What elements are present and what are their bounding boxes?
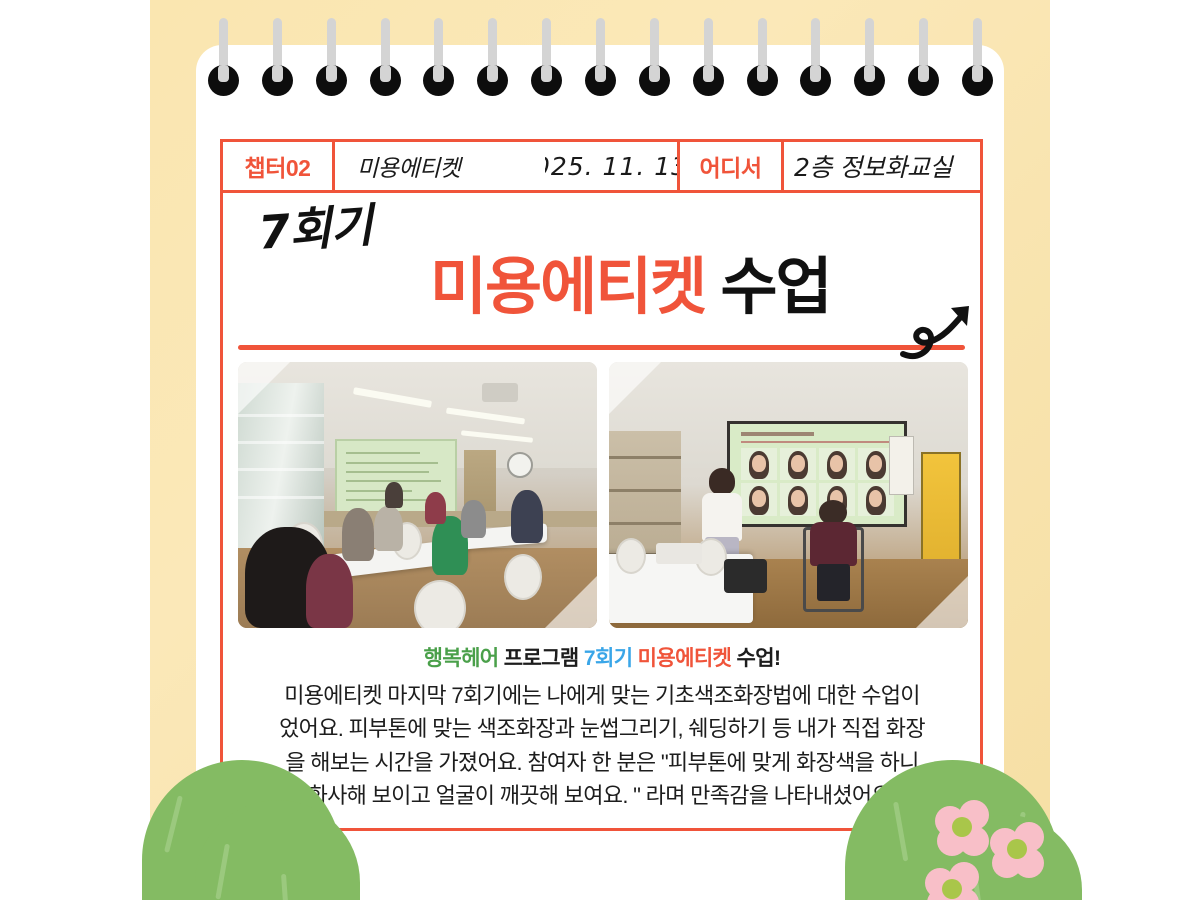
page-title-black: 수업 <box>720 253 830 322</box>
page-title: 미용에티켓 수업 <box>430 236 831 326</box>
header-where-label: 어디서 <box>680 142 784 190</box>
title-divider <box>238 345 965 350</box>
lead-line: 행복헤어 프로그램 7회기 미용에티켓 수업! <box>238 643 966 675</box>
flower-icon <box>925 862 979 900</box>
paragraph-line: 미용에티켓 마지막 7회기에는 나에게 맞는 기초색조화장법에 대한 수업이 <box>238 679 966 712</box>
photo-classroom-wide-shot <box>238 362 597 628</box>
header-place: 2층 정보화교실 <box>784 142 980 190</box>
lead-run-orange: 미용에티켓 <box>638 647 732 670</box>
header-topic: 미용에티켓 <box>335 142 545 190</box>
page-title-orange: 미용에티켓 <box>430 253 705 322</box>
paragraph-line: 었어요. 피부톤에 맞는 색조화장과 눈썹그리기, 쉐딩하기 등 내가 직접 화… <box>238 712 966 745</box>
paragraph-line: 화사해 보이고 얼굴이 깨끗해 보여요. " 라며 만족감을 나타내셨어요. <box>238 779 966 812</box>
flower-icon <box>990 822 1044 876</box>
lead-run-black: 수업! <box>731 647 780 670</box>
flower-icon <box>935 800 989 854</box>
poster-canvas: 챕터02 미용에티켓 2025. 11. 13. 어디서 2층 정보화교실 7회… <box>0 0 1200 900</box>
lead-run-blue: 7회기 <box>584 647 633 670</box>
header-info-bar: 챕터02 미용에티켓 2025. 11. 13. 어디서 2층 정보화교실 <box>220 139 983 193</box>
session-tag: 7회기 <box>256 189 374 263</box>
paragraph-line: 을 해보는 시간을 가졌어요. 참여자 한 분은 "피부톤에 맞게 화장색을 하… <box>238 746 966 779</box>
header-date: 2025. 11. 13. <box>545 142 680 190</box>
curly-arrow-icon <box>895 298 985 362</box>
lead-run-green: 행복헤어 <box>424 647 499 670</box>
photo-instructor-presentation-shot <box>609 362 968 628</box>
photo-row <box>238 362 968 628</box>
description-paragraph: 미용에티켓 마지막 7회기에는 나에게 맞는 기초색조화장법에 대한 수업이었어… <box>238 679 966 813</box>
chapter-badge: 챕터02 <box>223 142 335 190</box>
body-text-block: 행복헤어 프로그램 7회기 미용에티켓 수업! 미용에티켓 마지막 7회기에는 … <box>238 643 966 813</box>
lead-run-black: 프로그램 <box>499 647 584 670</box>
